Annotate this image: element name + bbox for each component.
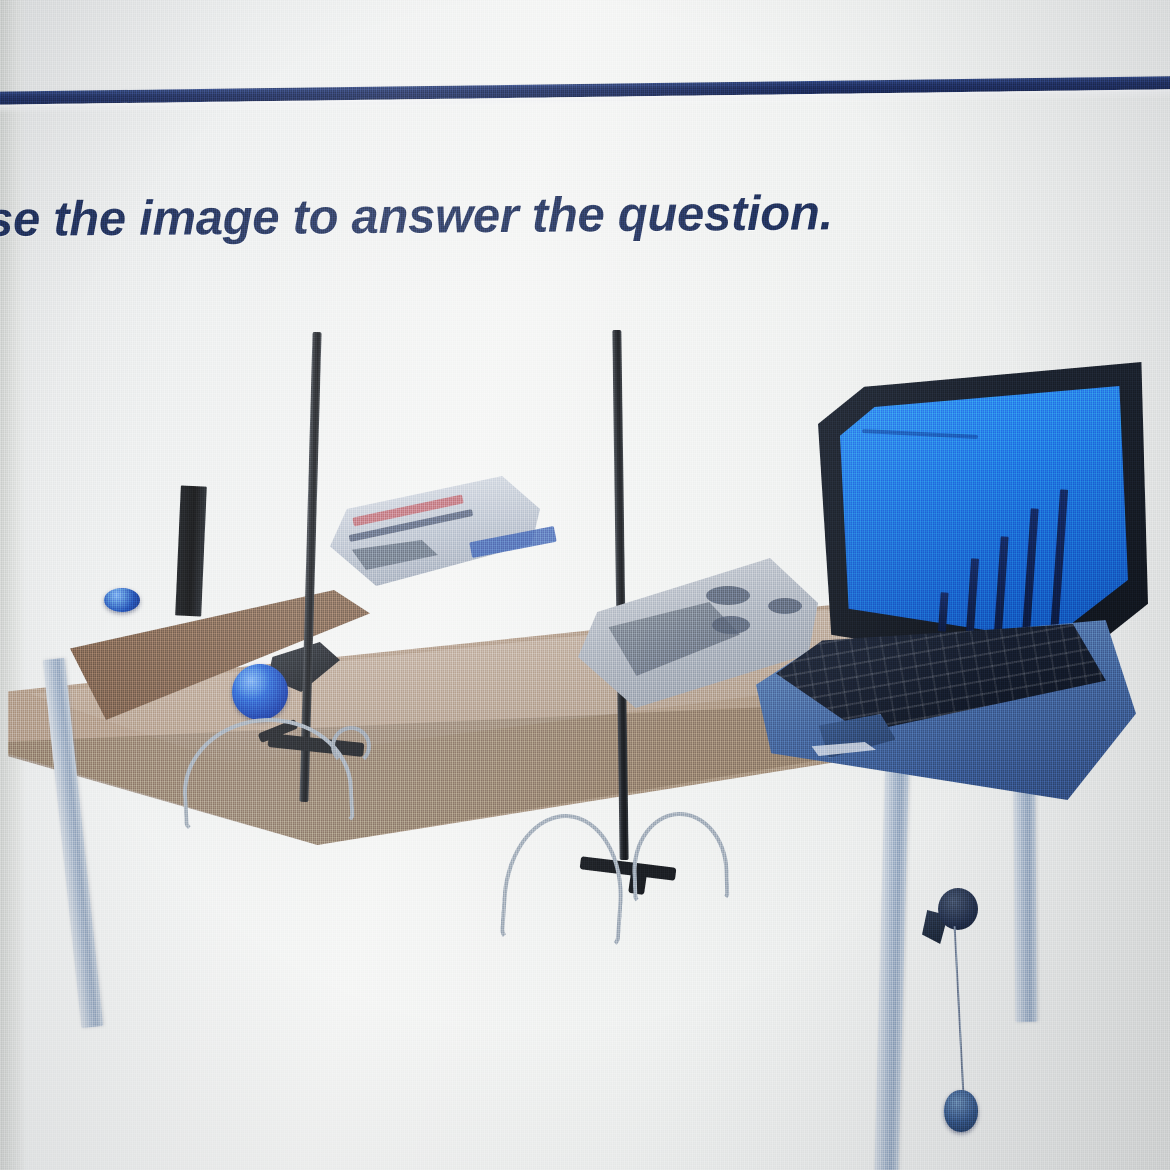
question-prompt: se the image to answer the question. [0, 184, 1046, 248]
chart-bar [1049, 489, 1067, 639]
interface-knob-3 [712, 616, 750, 634]
interface-knob-1 [706, 586, 750, 605]
photogate-timer-unit [330, 476, 540, 586]
cable-loop-center [500, 810, 629, 948]
photogate-flag [175, 485, 207, 616]
chart-bar [1022, 508, 1039, 637]
blue-sphere-large [232, 664, 288, 720]
lab-apparatus-photo [0, 290, 1170, 1170]
cable-loop-right [630, 810, 729, 903]
table-leg-front-right [874, 742, 909, 1170]
chart-bar [966, 558, 979, 633]
laptop-bar-chart [935, 481, 1085, 640]
cable-loop-left-small [331, 726, 371, 766]
chart-bar [938, 592, 949, 631]
interface-knob-2 [768, 598, 802, 614]
pulley-wheel [938, 888, 978, 930]
chart-bar [994, 536, 1009, 635]
photographed-screen: se the image to answer the question. [0, 0, 1170, 1170]
hanging-mass [944, 1090, 978, 1132]
pulley-string [954, 926, 965, 1094]
blue-sphere-small [104, 588, 140, 612]
